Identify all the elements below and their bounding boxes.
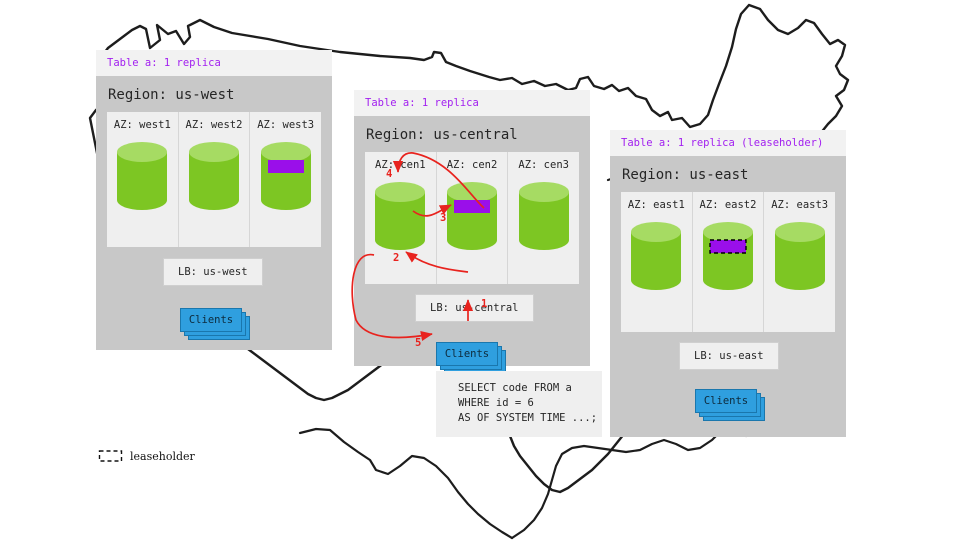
clients-label: Clients [180, 308, 242, 332]
clients-label: Clients [695, 389, 757, 413]
replica-cylinder-cen1[interactable] [373, 180, 427, 252]
load-balancer-us-central[interactable]: LB: us-central [415, 294, 534, 322]
region-header-us-east: Table a: 1 replica (leaseholder) [610, 130, 846, 156]
az-label: AZ: cen2 [447, 159, 498, 171]
flow-step-2-label: 2 [393, 252, 399, 264]
legend-label: leaseholder [130, 450, 195, 463]
az-label: AZ: east3 [771, 199, 828, 211]
replica-cylinder-cen2[interactable] [445, 180, 499, 252]
region-title-us-east: Region: us-east [610, 156, 846, 192]
az-east2[interactable]: AZ: east2 [693, 192, 765, 332]
load-balancer-us-west[interactable]: LB: us-west [163, 258, 263, 286]
leaseholder-bar-east2 [710, 240, 746, 253]
replica-cylinder-west3[interactable] [259, 140, 313, 212]
clients-us-west[interactable]: Clients [180, 308, 248, 340]
az-cen3[interactable]: AZ: cen3 [508, 152, 579, 284]
load-balancer-us-east[interactable]: LB: us-east [679, 342, 779, 370]
flow-step-3-label: 3 [440, 212, 446, 224]
replica-cylinder-east3[interactable] [773, 220, 827, 292]
flow-step-1-label: 1 [481, 298, 487, 310]
region-title-us-west: Region: us-west [96, 76, 332, 112]
az-label: AZ: cen3 [518, 159, 569, 171]
az-label: AZ: west3 [257, 119, 314, 131]
region-header-us-west: Table a: 1 replica [96, 50, 332, 76]
region-panel-us-central: Table a: 1 replica Region: us-central AZ… [354, 90, 590, 366]
clients-label: Clients [436, 342, 498, 366]
az-east3[interactable]: AZ: east3 [764, 192, 835, 332]
region-title-us-central: Region: us-central [354, 116, 590, 152]
az-row-us-central: AZ: cen1 AZ: cen2 [365, 152, 579, 284]
replica-cylinder-cen3[interactable] [517, 180, 571, 252]
az-label: AZ: east1 [628, 199, 685, 211]
az-west1[interactable]: AZ: west1 [107, 112, 179, 247]
clients-us-east[interactable]: Clients [695, 389, 763, 421]
az-east1[interactable]: AZ: east1 [621, 192, 693, 332]
replica-cylinder-east2[interactable] [701, 220, 755, 292]
az-west3[interactable]: AZ: west3 [250, 112, 321, 247]
dashed-rect-icon [98, 449, 124, 463]
az-cen1[interactable]: AZ: cen1 [365, 152, 437, 284]
flow-step-5-label: 5 [415, 337, 421, 349]
az-row-us-west: AZ: west1 AZ: west2 AZ: [107, 112, 321, 247]
replica-cylinder-west2[interactable] [187, 140, 241, 212]
az-label: AZ: west2 [186, 119, 243, 131]
replica-cylinder-east1[interactable] [629, 220, 683, 292]
legend: leaseholder [98, 449, 195, 463]
region-body-us-east: Region: us-east AZ: east1 AZ: east2 [610, 156, 846, 437]
flow-step-4-label: 4 [386, 168, 392, 180]
az-label: AZ: cen1 [375, 159, 426, 171]
az-cen2[interactable]: AZ: cen2 [437, 152, 509, 284]
leaseholder-bar-cen2 [454, 200, 490, 213]
region-body-us-west: Region: us-west AZ: west1 AZ: west2 [96, 76, 332, 350]
az-label: AZ: west1 [114, 119, 171, 131]
replica-cylinder-west1[interactable] [115, 140, 169, 212]
region-body-us-central: Region: us-central AZ: cen1 AZ: cen2 [354, 116, 590, 366]
az-label: AZ: east2 [700, 199, 757, 211]
az-row-us-east: AZ: east1 AZ: east2 [621, 192, 835, 332]
az-west2[interactable]: AZ: west2 [179, 112, 251, 247]
region-header-us-central: Table a: 1 replica [354, 90, 590, 116]
sql-query-box: SELECT code FROM a WHERE id = 6 AS OF SY… [436, 371, 602, 437]
leaseholder-bar-west3 [268, 160, 304, 173]
clients-us-central[interactable]: Clients [436, 342, 504, 374]
region-panel-us-east: Table a: 1 replica (leaseholder) Region:… [610, 130, 846, 437]
region-panel-us-west: Table a: 1 replica Region: us-west AZ: w… [96, 50, 332, 350]
